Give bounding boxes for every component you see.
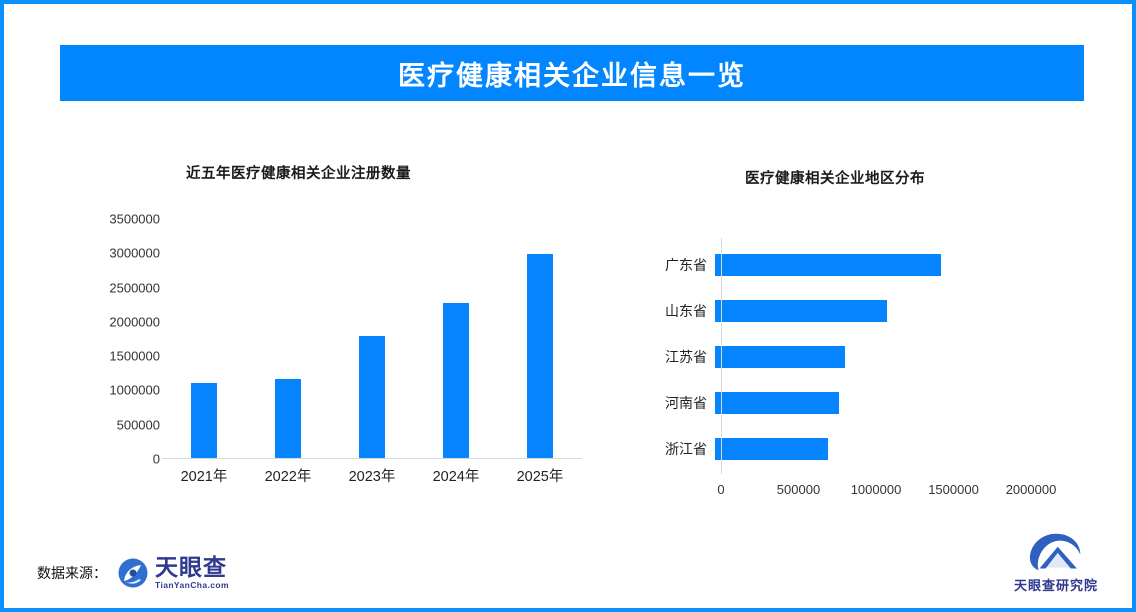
y-tick-label: 1000000 — [109, 383, 160, 398]
bar-slot — [330, 219, 414, 458]
x-tick-label: 2025年 — [498, 465, 582, 486]
bar-slot — [414, 219, 498, 458]
x-axis-line — [162, 458, 582, 459]
bar-row: 广东省 — [634, 254, 1054, 276]
registration-count-bar-chart: 0500000100000015000002000000250000030000… — [84, 219, 584, 504]
x-tick-label: 0 — [717, 482, 724, 497]
x-tick-label: 2024年 — [414, 465, 498, 486]
plot-area — [162, 219, 582, 459]
bar-track — [715, 254, 1054, 276]
x-tick-label: 1500000 — [928, 482, 979, 497]
bar-row: 山东省 — [634, 300, 1054, 322]
bar-江苏省 — [715, 346, 845, 368]
bar-2025年 — [527, 254, 553, 458]
region-distribution-bar-chart: 广东省山东省江苏省河南省浙江省 050000010000001500000200… — [634, 242, 1054, 517]
y-tick-label: 3000000 — [109, 246, 160, 261]
category-label-山东省: 山东省 — [634, 301, 715, 321]
bar-浙江省 — [715, 438, 828, 460]
bar-slot — [246, 219, 330, 458]
category-label-河南省: 河南省 — [634, 393, 715, 413]
category-label-广东省: 广东省 — [634, 255, 715, 275]
bar-河南省 — [715, 392, 839, 414]
left-chart-title: 近五年医疗健康相关企业注册数量 — [186, 162, 411, 183]
x-tick-label: 2023年 — [330, 465, 414, 486]
bar-series: 广东省山东省江苏省河南省浙江省 — [634, 242, 1054, 470]
y-tick-label: 0 — [153, 452, 160, 467]
x-tick-label: 2000000 — [1006, 482, 1057, 497]
bar-series — [162, 219, 582, 458]
y-tick-label: 1500000 — [109, 349, 160, 364]
bar-track — [715, 438, 1054, 460]
data-source: 数据来源： 天眼查 TianYanCha.com — [37, 556, 229, 590]
x-tick-label: 500000 — [777, 482, 820, 497]
y-axis-line — [721, 238, 722, 474]
infographic-page: 医疗健康相关企业信息一览 近五年医疗健康相关企业注册数量 05000001000… — [0, 0, 1136, 612]
x-tick-label: 2021年 — [162, 465, 246, 486]
tianyancha-mark-icon — [117, 557, 149, 589]
bar-2023年 — [359, 336, 385, 458]
institute-name: 天眼查研究院 — [1014, 575, 1098, 594]
y-tick-label: 2500000 — [109, 280, 160, 295]
bar-2022年 — [275, 379, 301, 458]
tianyancha-wordmark: 天眼查 TianYanCha.com — [155, 556, 229, 590]
y-axis-tick-labels: 0500000100000015000002000000250000030000… — [84, 219, 160, 459]
bar-山东省 — [715, 300, 887, 322]
x-tick-label: 1000000 — [851, 482, 902, 497]
bar-row: 河南省 — [634, 392, 1054, 414]
bar-track — [715, 392, 1054, 414]
bar-2021年 — [191, 383, 217, 458]
tianyancha-logo: 天眼查 TianYanCha.com — [117, 556, 229, 590]
institute-arch-icon — [1028, 532, 1084, 572]
y-tick-label: 3500000 — [109, 212, 160, 227]
bar-track — [715, 300, 1054, 322]
x-tick-label: 2022年 — [246, 465, 330, 486]
brand-name-cn: 天眼查 — [155, 556, 229, 579]
x-axis-tick-labels: 2021年2022年2023年2024年2025年 — [162, 465, 582, 486]
bar-row: 江苏省 — [634, 346, 1054, 368]
data-source-label: 数据来源： — [37, 563, 107, 583]
category-label-浙江省: 浙江省 — [634, 439, 715, 459]
x-axis-tick-labels: 0500000100000015000002000000 — [721, 482, 1031, 502]
bar-row: 浙江省 — [634, 438, 1054, 460]
title-banner: 医疗健康相关企业信息一览 — [60, 45, 1084, 101]
y-tick-label: 2000000 — [109, 314, 160, 329]
page-title: 医疗健康相关企业信息一览 — [398, 54, 746, 93]
y-tick-label: 500000 — [117, 417, 160, 432]
right-chart-title: 医疗健康相关企业地区分布 — [745, 167, 925, 188]
bar-slot — [498, 219, 582, 458]
bar-slot — [162, 219, 246, 458]
research-institute-logo: 天眼查研究院 — [1004, 532, 1108, 594]
bar-track — [715, 346, 1054, 368]
brand-name-en: TianYanCha.com — [155, 581, 229, 590]
bar-2024年 — [443, 303, 469, 458]
category-label-江苏省: 江苏省 — [634, 347, 715, 367]
bar-广东省 — [715, 254, 941, 276]
